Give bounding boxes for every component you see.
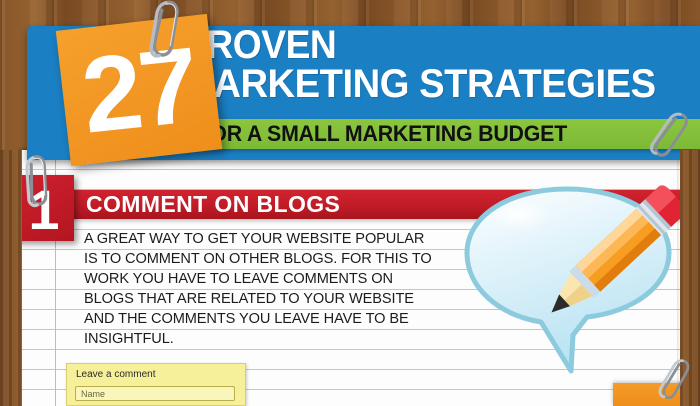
item-body-text: A GREAT WAY TO GET YOUR WEBSITE POPULAR … (84, 229, 441, 349)
header-title-block: PROVEN MARKETING STRATEGIES (182, 26, 700, 104)
comment-name-input[interactable]: Name (75, 386, 235, 401)
paperclip-icon-top (135, 0, 195, 60)
item-body-block: A GREAT WAY TO GET YOUR WEBSITE POPULAR … (84, 229, 456, 349)
pencil-icon (520, 168, 700, 348)
header-subtitle-bar: FOR A SMALL MARKETING BUDGET (180, 119, 700, 149)
header-title-line-1: PROVEN (182, 26, 664, 64)
header-title-line-2: MARKETING STRATEGIES (182, 65, 677, 103)
wood-left-edge-strip (0, 150, 22, 406)
comment-form-label: Leave a comment (67, 364, 245, 380)
paperclip-icon-bottom (655, 356, 695, 406)
comment-form-widget[interactable]: Leave a comment Name (66, 363, 246, 406)
header-subtitle-text: FOR A SMALL MARKETING BUDGET (180, 121, 567, 147)
item-title-text: COMMENT ON BLOGS (66, 191, 340, 218)
